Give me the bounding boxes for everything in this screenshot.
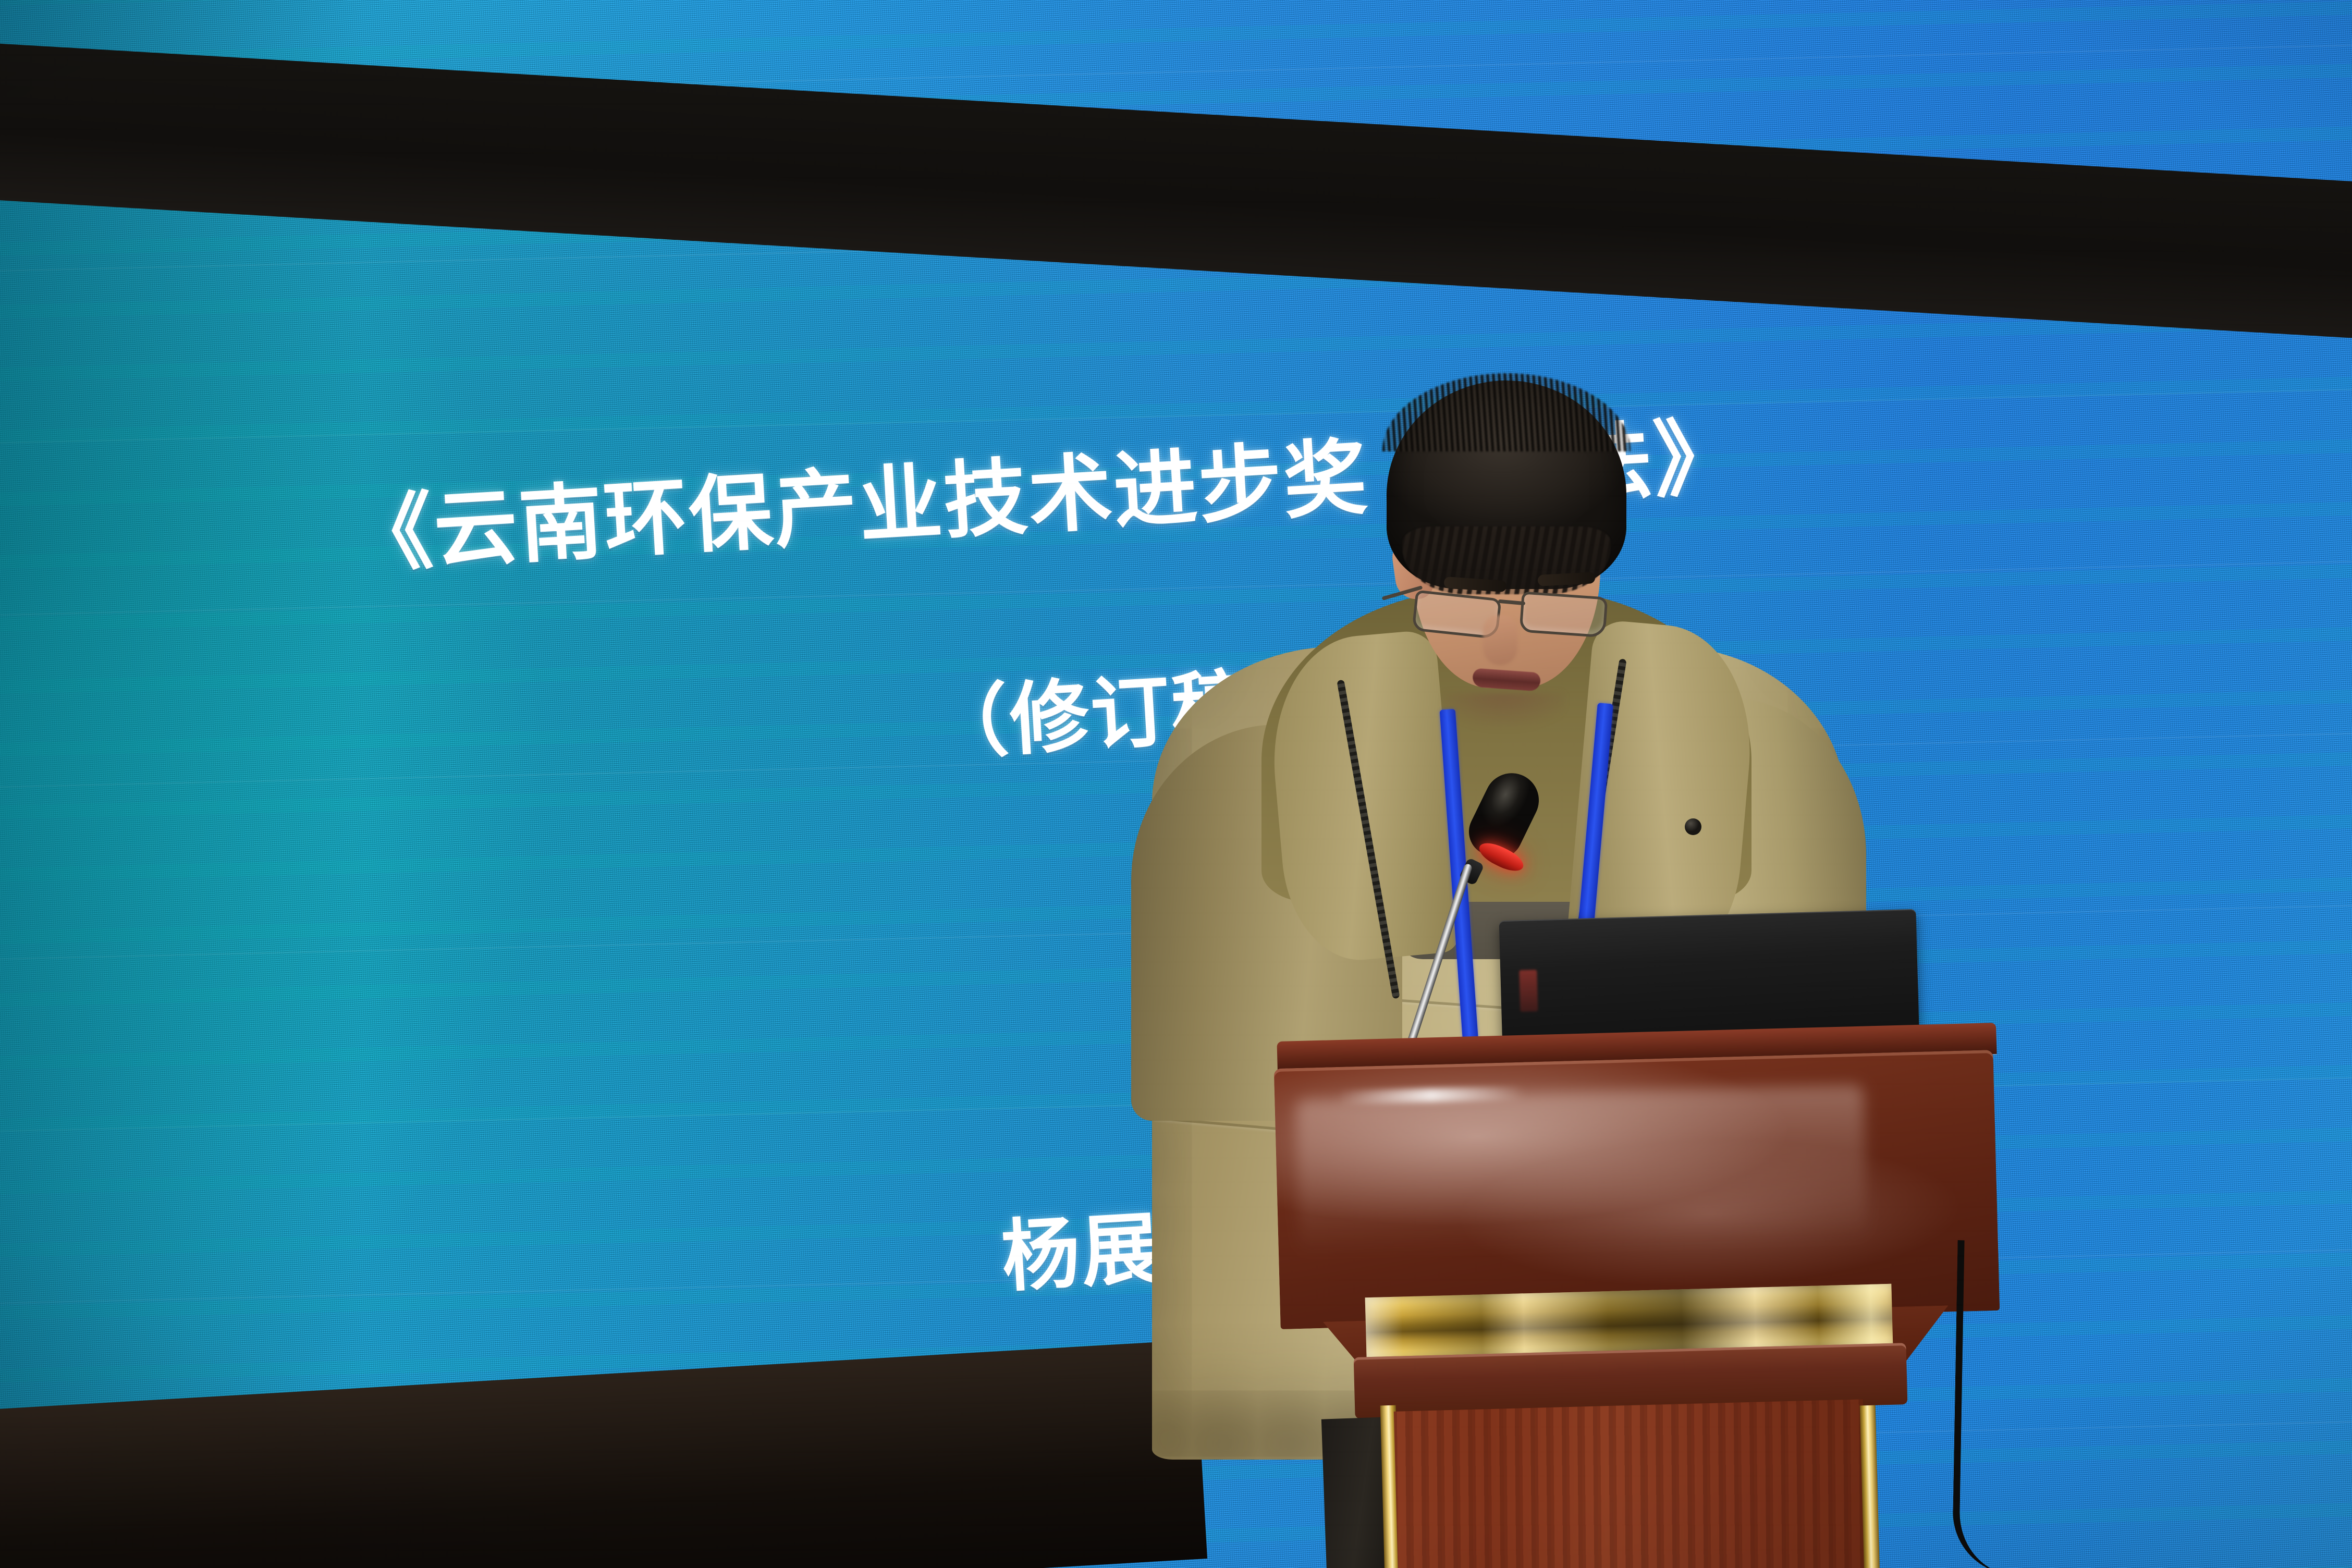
speaker-nose	[1483, 615, 1517, 665]
lectern-column	[1394, 1399, 1867, 1568]
lectern-power-cable	[1952, 1240, 2020, 1568]
photo-scene: 《云南环保产业技术进步奖 动办法》 （修订稿） 杨展雄	[0, 0, 2352, 1568]
jacket-snap-button	[1685, 818, 1701, 835]
lectern	[1261, 1032, 2043, 1568]
laptop-logo	[1519, 970, 1538, 1012]
speaker-mouth	[1472, 668, 1541, 692]
speaker-chin-shadow	[1444, 693, 1564, 730]
eyeglass-lens-right	[1519, 591, 1608, 638]
speaker-head	[1381, 381, 1626, 704]
lectern-gloss-reflection	[1295, 1085, 1867, 1256]
